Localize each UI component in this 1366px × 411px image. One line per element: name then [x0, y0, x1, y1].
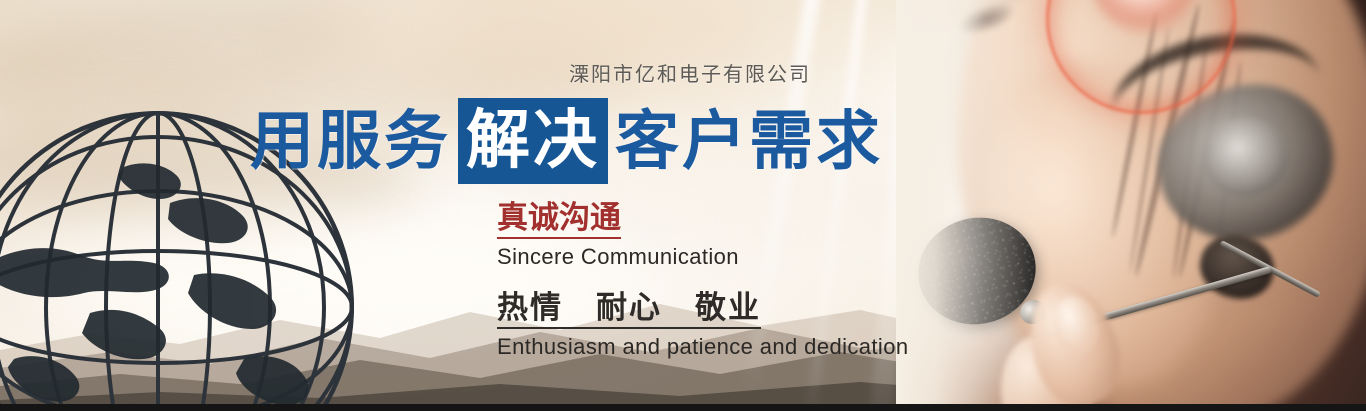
headset-earcup-inner	[1202, 118, 1288, 196]
slogan-cn-2: 热情 耐心 敬业	[497, 290, 761, 329]
headset-operator-photo	[896, 0, 1366, 404]
headline: 用服务 解决 客户需求	[250, 98, 883, 184]
slogan-en-1: Sincere Communication	[497, 244, 908, 270]
company-name: 溧阳市亿和电子有限公司	[569, 58, 811, 87]
promo-banner: 溧阳市亿和电子有限公司 用服务 解决 客户需求 真诚沟通 Sincere Com…	[0, 0, 1366, 411]
slogan-cn-1: 真诚沟通	[497, 200, 621, 239]
banner-copy: 溧阳市亿和电子有限公司 用服务 解决 客户需求 真诚沟通 Sincere Com…	[0, 0, 900, 404]
bottom-bar	[0, 404, 1366, 411]
slogan-en-2: Enthusiasm and patience and dedication	[497, 334, 908, 360]
headline-before: 用服务	[250, 109, 451, 173]
slogan-block: 真诚沟通 Sincere Communication 热情 耐心 敬业 Enth…	[497, 200, 908, 360]
slogan-row: 真诚沟通 Sincere Communication	[497, 200, 908, 270]
headline-highlight: 解决	[458, 98, 608, 184]
slogan-row: 热情 耐心 敬业 Enthusiasm and patience and ded…	[497, 290, 908, 360]
headline-after: 客户需求	[615, 109, 883, 173]
